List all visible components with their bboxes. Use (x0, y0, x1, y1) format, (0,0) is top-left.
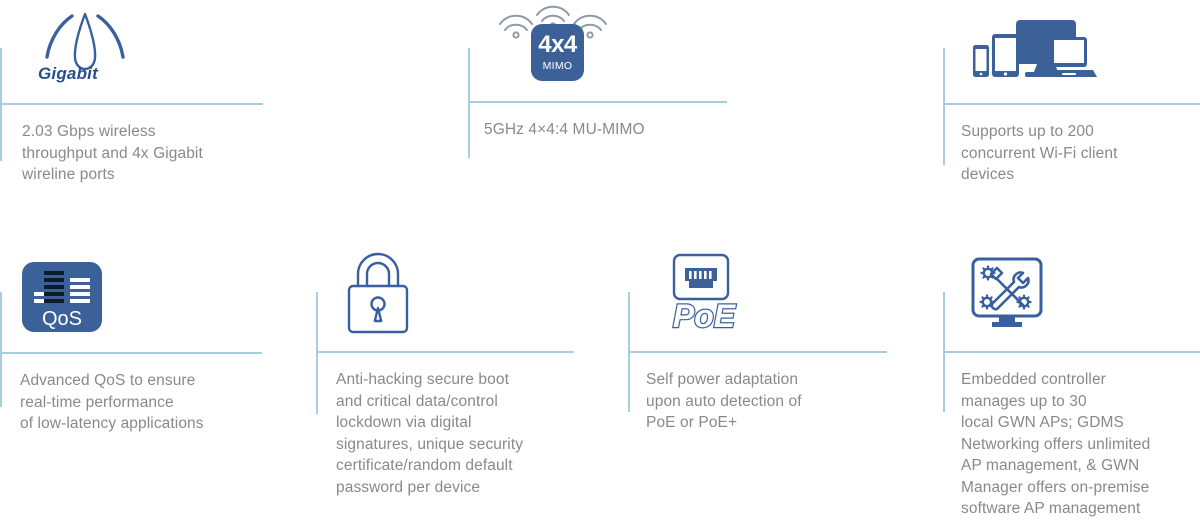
feature-cell-security: Anti-hacking secure boot and critical da… (316, 252, 616, 516)
poe-ethernet-port-icon: PoE (658, 252, 750, 344)
cell-horizontal-rule (628, 351, 887, 353)
mimo-badge-number: 4x4 (531, 24, 584, 57)
feature-caption: Supports up to 200 concurrent Wi-Fi clie… (961, 121, 1200, 186)
feature-cell-clients: Supports up to 200 concurrent Wi-Fi clie… (943, 0, 1200, 220)
feature-grid: Gigabit 2.03 Gbps wireless throughput an… (0, 0, 1200, 516)
feature-caption: 5GHz 4×4:4 MU-MIMO (484, 119, 754, 141)
cell-horizontal-rule (316, 351, 574, 353)
cell-vertical-rule (468, 48, 470, 158)
cell-vertical-rule (316, 292, 318, 414)
feature-cell-poe: PoE Self power adaptation upon auto dete… (628, 252, 928, 516)
mimo-badge-sublabel: MIMO (531, 57, 584, 72)
padlock-icon (336, 252, 420, 340)
feature-caption: 2.03 Gbps wireless throughput and 4x Gig… (22, 121, 272, 186)
cell-horizontal-rule (0, 352, 262, 354)
feature-caption: Anti-hacking secure boot and critical da… (336, 369, 601, 498)
cell-horizontal-rule (0, 103, 263, 105)
qos-equalizer-icon: QoS (22, 262, 102, 332)
feature-cell-mimo: 4x4 MIMO 5GHz 4×4:4 MU-MIMO (468, 0, 768, 220)
multi-devices-icon (967, 14, 1097, 86)
feature-caption: Advanced QoS to ensure real-time perform… (20, 370, 282, 435)
qos-badge: QoS (22, 262, 102, 332)
cell-horizontal-rule (943, 103, 1200, 105)
feature-cell-qos: QoS Advanced QoS to ensure real-time per… (0, 252, 300, 516)
gigabit-antenna-icon: Gigabit (30, 8, 140, 93)
cell-horizontal-rule (468, 101, 727, 103)
gigabit-icon-label: Gigabit (38, 64, 98, 84)
feature-cell-controller: Embedded controller manages up to 30 loc… (943, 252, 1200, 516)
mimo-4x4-wifi-icon: 4x4 MIMO (498, 2, 608, 82)
mimo-badge: 4x4 MIMO (531, 24, 584, 81)
feature-caption: Self power adaptation upon auto detectio… (646, 369, 908, 434)
monitor-tools-gears-icon (967, 256, 1047, 334)
cell-vertical-rule (0, 292, 2, 407)
qos-badge-label: QoS (22, 309, 102, 329)
cell-horizontal-rule (943, 351, 1200, 353)
cell-vertical-rule (943, 48, 945, 165)
svg-text:PoE: PoE (673, 298, 737, 334)
feature-caption: Embedded controller manages up to 30 loc… (961, 369, 1200, 520)
feature-cell-gigabit: Gigabit 2.03 Gbps wireless throughput an… (0, 0, 300, 220)
